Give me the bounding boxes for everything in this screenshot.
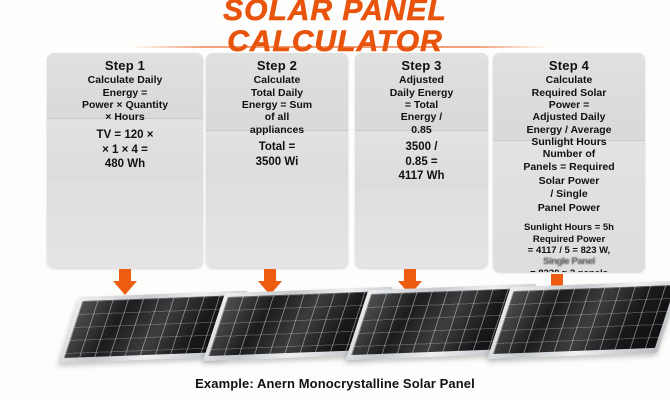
- solar-panel-array-image: [0, 280, 670, 375]
- step-card-3: Step 3 Adjusted Daily Energy = Total Ene…: [355, 53, 488, 268]
- step-card-3-desc-line-3: = Total: [361, 99, 482, 111]
- step-card-4-calc-line-4: / Single: [498, 188, 640, 201]
- step-card-3-desc-line-1: Adjusted: [361, 74, 482, 86]
- step-card-2-label: Step 2: [212, 58, 342, 73]
- step-card-1: Step 1 Calculate Daily Energy = Power × …: [47, 53, 203, 268]
- step-card-4-worked-example: Sunlight Hours = 5h Required Power = 411…: [498, 222, 640, 272]
- step-card-3-desc-line-4: Energy /: [361, 111, 482, 123]
- step-card-2-desc-line-2: Total Daily: [212, 87, 342, 99]
- title-line-1: SOLAR PANEL: [0, 0, 670, 27]
- page-title: SOLAR PANEL CALCULATOR: [0, 0, 670, 57]
- panel-glare: [487, 281, 670, 359]
- step-card-4-calc-line-3: Solar Power: [498, 175, 640, 188]
- step-card-4-example: Number of Panels = Required Solar Power …: [493, 141, 645, 272]
- step-card-2-desc-line-4: of all: [212, 111, 342, 123]
- step-card-4-header: Step 4 Calculate Required Solar Power = …: [493, 53, 645, 141]
- step-card-4-sub-line-3: = 4117 / 5 = 823 W,: [498, 245, 640, 256]
- step-card-1-calc-line-2: × 1 × 4 =: [52, 143, 198, 158]
- step-card-4-calc-line-5: Panel Power: [498, 202, 640, 215]
- step-card-1-example: TV = 120 × × 1 × 4 = 480 Wh: [47, 119, 203, 178]
- step-card-2-calc-line-1: Total =: [211, 140, 343, 155]
- step-card-4-desc-line-5: Energy / Average: [499, 124, 639, 136]
- step-card-3-header: Step 3 Adjusted Daily Energy = Total Ene…: [355, 53, 488, 131]
- step-card-4-desc-line-4: Adjusted Daily: [499, 111, 639, 123]
- step-card-3-calc-line-3: 4117 Wh: [360, 169, 483, 184]
- step-card-2-example: Total = 3500 Wi: [206, 131, 348, 175]
- step-card-2-desc-line-1: Calculate: [212, 74, 342, 86]
- infographic-canvas: SOLAR PANEL CALCULATOR Step 1 Calculate …: [0, 0, 670, 400]
- step-card-3-desc-line-2: Daily Energy: [361, 87, 482, 99]
- step-card-4-sub-line-4: Single Panel: [498, 256, 640, 267]
- step-card-4-desc-line-2: Required Solar: [499, 87, 639, 99]
- step-card-4-desc-line-1: Calculate: [499, 74, 639, 86]
- step-card-3-example: 3500 / 0.85 = 4117 Wh: [355, 131, 488, 190]
- step-card-1-desc-line-3: Power × Quantity: [53, 99, 197, 111]
- step-card-2-calc-line-2: 3500 Wi: [211, 155, 343, 170]
- step-card-3-calc-line-2: 0.85 =: [360, 155, 483, 170]
- step-card-2: Step 2 Calculate Total Daily Energy = Su…: [206, 53, 348, 268]
- step-card-4-calc-line-1: Number of: [498, 148, 640, 161]
- step-card-4-calc-line-2: Panels = Required: [498, 161, 640, 174]
- step-card-4-label: Step 4: [499, 58, 639, 73]
- step-card-4-sub-line-5: = 8230 ≈ 3 panels: [498, 268, 640, 272]
- step-card-2-header: Step 2 Calculate Total Daily Energy = Su…: [206, 53, 348, 131]
- step-card-4-desc-line-3: Power =: [499, 99, 639, 111]
- step-card-3-calc-line-1: 3500 /: [360, 140, 483, 155]
- step-card-2-desc-line-3: Energy = Sum: [212, 99, 342, 111]
- step-card-1-desc-line-2: Energy =: [53, 87, 197, 99]
- title-underline-divider: [130, 46, 550, 48]
- image-caption: Example: Anern Monocrystalline Solar Pan…: [0, 376, 670, 391]
- step-card-1-desc-line-1: Calculate Daily: [53, 74, 197, 86]
- step-card-1-header: Step 1 Calculate Daily Energy = Power × …: [47, 53, 203, 119]
- step-card-3-label: Step 3: [361, 58, 482, 73]
- step-card-4: Step 4 Calculate Required Solar Power = …: [493, 53, 645, 272]
- step-card-4-sub-line-2: Required Power: [498, 234, 640, 245]
- step-card-4-sub-line-1: Sunlight Hours = 5h: [498, 222, 640, 233]
- step-card-1-calc-line-3: 480 Wh: [52, 157, 198, 172]
- step-card-1-label: Step 1: [53, 58, 197, 73]
- solar-panel-4: [487, 281, 670, 359]
- step-card-1-calc-line-1: TV = 120 ×: [52, 128, 198, 143]
